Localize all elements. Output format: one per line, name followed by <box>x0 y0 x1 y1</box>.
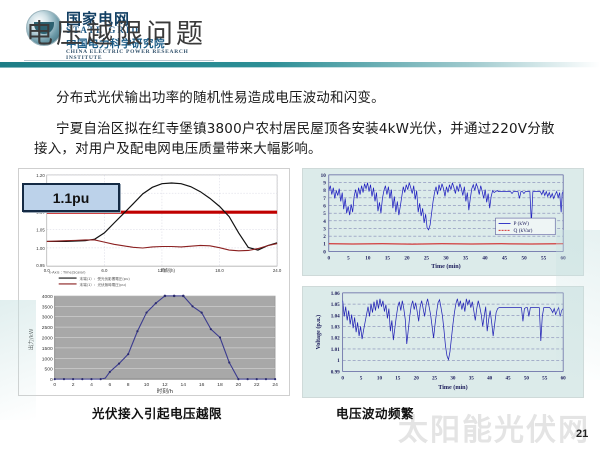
svg-text:10: 10 <box>321 173 327 179</box>
svg-text:15: 15 <box>385 255 391 261</box>
caption-left: 光伏接入引起电压越限 <box>92 403 222 422</box>
svg-text:2000: 2000 <box>42 335 53 341</box>
svg-text:6: 6 <box>323 203 326 209</box>
xaxis-label-voltage: Time (min) <box>438 384 467 391</box>
svg-text:末端(1）：受光伏影響電圧(pu): 末端(1）：受光伏影響電圧(pu) <box>80 276 131 281</box>
svg-text:45: 45 <box>502 255 508 261</box>
svg-text:0: 0 <box>323 249 326 255</box>
svg-text:22: 22 <box>254 382 260 388</box>
svg-text:9: 9 <box>323 181 326 187</box>
voltage-fluctuation-chart: 1.06 1.05 1.04 1.03 1.02 1.01 1 0.99 Vol… <box>303 287 583 397</box>
slide-header: 国家电网 STATE GRID 中国电力科学研究院 CHINA ELECTRIC… <box>0 0 600 70</box>
yaxis-label-voltage: Voltage (p.u.) <box>315 315 322 350</box>
svg-text:3: 3 <box>323 226 326 232</box>
svg-text:1.02: 1.02 <box>331 336 340 342</box>
legend-label-q: Q (kVar) <box>513 227 532 234</box>
svg-text:40: 40 <box>482 255 488 261</box>
svg-text:1.03: 1.03 <box>331 325 340 331</box>
svg-text:20: 20 <box>404 255 410 261</box>
svg-text:5: 5 <box>347 255 350 261</box>
svg-text:60: 60 <box>561 255 567 261</box>
figure-panel-power-fluctuation: 10 9 8 7 6 5 4 3 2 1 0 P (kW) Q (kVar) 0… <box>302 168 584 276</box>
svg-text:25: 25 <box>424 255 430 261</box>
svg-text:60: 60 <box>561 375 567 381</box>
svg-text:8: 8 <box>127 382 130 388</box>
caption-right: 电压波动频繁 <box>336 403 414 422</box>
svg-text:50: 50 <box>522 255 528 261</box>
svg-text:3000: 3000 <box>42 315 53 321</box>
svg-text:16: 16 <box>199 382 205 388</box>
svg-text:6: 6 <box>108 382 111 388</box>
page-title: 电压越限问题 <box>26 12 206 51</box>
svg-text:1.20: 1.20 <box>36 173 45 178</box>
svg-text:30: 30 <box>450 375 456 381</box>
legend-label-p: P (kW) <box>513 220 529 227</box>
svg-text:10: 10 <box>377 375 383 381</box>
svg-text:45: 45 <box>505 375 511 381</box>
svg-text:5: 5 <box>323 211 326 217</box>
svg-text:末端(1）：光伏無時電圧(pu): 末端(1）：光伏無時電圧(pu) <box>80 282 127 287</box>
svg-text:0.99: 0.99 <box>331 369 340 375</box>
pv-output-chart: 4000 3500 3000 2500 2000 1500 1000 500 0… <box>19 291 289 395</box>
xaxis-label-power: Time (min) <box>431 263 460 270</box>
svg-text:18: 18 <box>217 382 223 388</box>
body-paragraph-1: 分布式光伏输出功率的随机性易造成电压波动和闪变。 <box>56 88 556 108</box>
watermark-text: 太阳能光伏网 <box>398 405 590 449</box>
svg-text:1.05: 1.05 <box>36 228 45 233</box>
svg-text:0: 0 <box>53 382 56 388</box>
svg-text:25: 25 <box>432 375 438 381</box>
svg-text:1.06: 1.06 <box>331 291 340 297</box>
svg-text:4000: 4000 <box>42 294 53 300</box>
svg-text:1500: 1500 <box>42 346 53 352</box>
svg-text:1: 1 <box>323 242 326 248</box>
svg-text:18.0: 18.0 <box>215 268 224 273</box>
svg-text:2: 2 <box>323 234 326 240</box>
svg-text:12: 12 <box>162 382 168 388</box>
svg-text:20: 20 <box>414 375 420 381</box>
svg-text:55: 55 <box>541 255 547 261</box>
svg-text:1.00: 1.00 <box>36 246 45 251</box>
chart-legend-power: P (kW) Q (kVar) <box>496 218 556 235</box>
svg-text:6.0: 6.0 <box>101 268 108 273</box>
svg-text:40: 40 <box>487 375 493 381</box>
svg-text:4: 4 <box>90 382 93 388</box>
svg-text:14: 14 <box>181 382 187 388</box>
power-fluctuation-chart: 10 9 8 7 6 5 4 3 2 1 0 P (kW) Q (kVar) 0… <box>303 169 583 275</box>
svg-text:1000: 1000 <box>42 356 53 362</box>
svg-text:35: 35 <box>463 255 469 261</box>
svg-text:1.04: 1.04 <box>331 313 340 319</box>
svg-text:7: 7 <box>323 196 326 202</box>
svg-text:4: 4 <box>323 219 326 225</box>
svg-text:5: 5 <box>360 375 363 381</box>
svg-text:0: 0 <box>328 255 331 261</box>
svg-text:0: 0 <box>341 375 344 381</box>
svg-text:24: 24 <box>272 382 278 388</box>
svg-text:x-Axis : Time(Scalar): x-Axis : Time(Scalar) <box>49 271 86 275</box>
svg-text:15: 15 <box>395 375 401 381</box>
svg-text:20: 20 <box>236 382 242 388</box>
xaxis-label-top-chart: 時刻(h) <box>161 267 176 274</box>
svg-text:10: 10 <box>144 382 150 388</box>
svg-text:500: 500 <box>44 367 52 373</box>
svg-text:35: 35 <box>469 375 475 381</box>
svg-text:1: 1 <box>337 358 340 364</box>
yaxis-label-pv-output: 出力/kW <box>27 328 35 350</box>
callout-1-1pu: 1.1pu <box>22 183 120 212</box>
svg-text:50: 50 <box>524 375 530 381</box>
svg-text:8: 8 <box>323 188 326 194</box>
svg-text:2: 2 <box>72 382 75 388</box>
svg-text:1.01: 1.01 <box>331 347 340 353</box>
xaxis-label-pv-output: 时刻/h <box>157 387 174 395</box>
svg-text:10: 10 <box>365 255 371 261</box>
svg-text:24.0: 24.0 <box>273 268 282 273</box>
svg-text:1.05: 1.05 <box>331 302 340 308</box>
page-number: 21 <box>576 428 588 440</box>
svg-text:55: 55 <box>542 375 548 381</box>
figure-panel-voltage-fluctuation: 1.06 1.05 1.04 1.03 1.02 1.01 1 0.99 Vol… <box>302 286 584 398</box>
header-divider-shadow <box>0 67 600 68</box>
svg-text:3500: 3500 <box>42 304 53 310</box>
svg-text:30: 30 <box>443 255 449 261</box>
svg-text:2500: 2500 <box>42 325 53 331</box>
body-paragraph-2: 宁夏自治区拟在红寺堡镇3800户农村居民屋顶各安装4kW光伏，并通过220V分散… <box>34 119 566 159</box>
